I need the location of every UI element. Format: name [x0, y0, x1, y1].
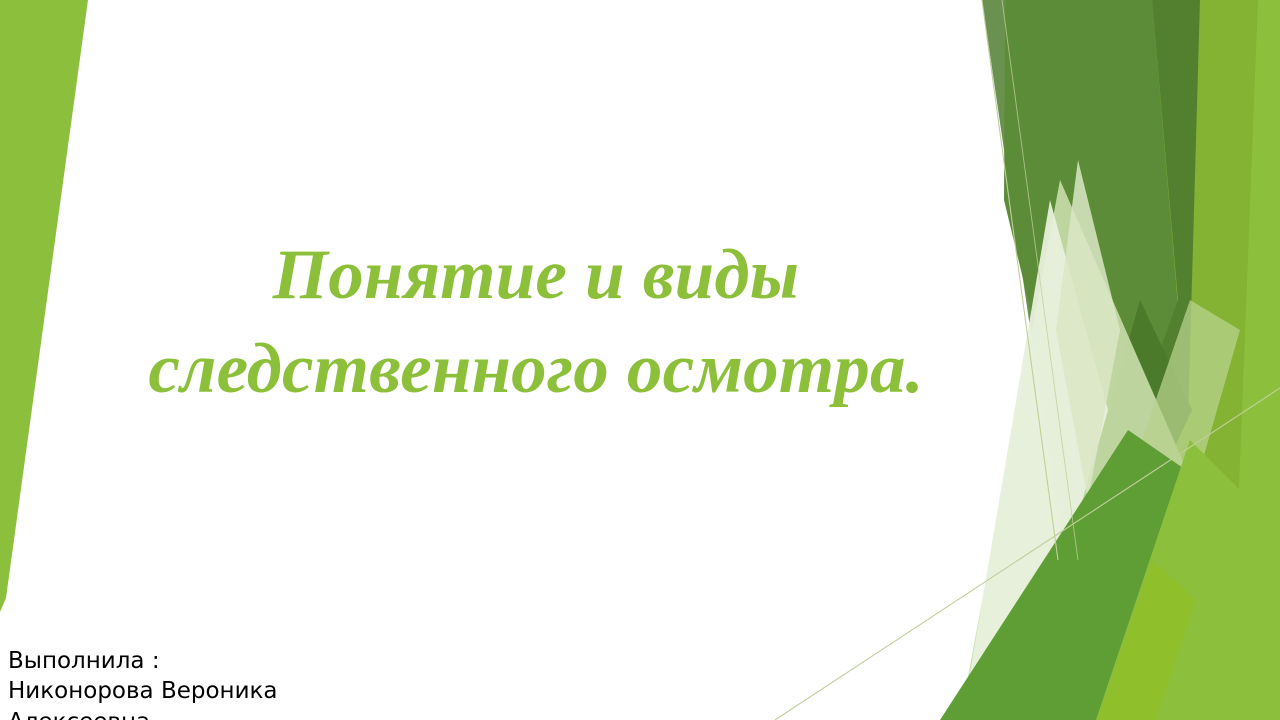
- v-notch-accent-shape: [1098, 300, 1192, 500]
- right-bright-alt-shape: [1230, 0, 1280, 720]
- pale-sliver-shape: [1056, 160, 1120, 500]
- lower-bright-sliver-shape: [1098, 560, 1196, 720]
- right-muted-slab-shape: [982, 0, 1110, 600]
- right-bright-slab-shape: [1104, 0, 1280, 720]
- author-label: Выполнила :: [8, 646, 478, 676]
- presentation-slide: Понятие и виды следственного осмотра. Вы…: [0, 0, 1280, 720]
- author-name-line-1: Никонорова Вероника: [8, 676, 478, 706]
- palest-diagonal-band-shape: [962, 200, 1108, 720]
- right-dark-slab-shape: [1004, 0, 1180, 540]
- right-deep-slab-shape: [1090, 0, 1200, 545]
- page-title: Понятие и виды следственного осмотра.: [96, 228, 976, 417]
- lower-mid-green-band-shape: [940, 430, 1186, 720]
- light-sweep-shape: [1046, 300, 1240, 720]
- hairline-shallow: [775, 388, 1280, 720]
- author-name-line-2: Алексеевна: [8, 707, 478, 720]
- title-block: Понятие и виды следственного осмотра.: [96, 228, 976, 417]
- author-block: Выполнила : Никонорова Вероника Алексеев…: [8, 646, 478, 720]
- hairline-steep-secondary: [1002, 0, 1078, 560]
- hairline-steep: [982, 0, 1058, 560]
- left-wedge-shape: [0, 0, 88, 612]
- right-edge-light-shape: [1082, 0, 1280, 720]
- lower-bright-accent-shape: [1096, 440, 1280, 720]
- pale-diagonal-band-shape: [960, 180, 1200, 720]
